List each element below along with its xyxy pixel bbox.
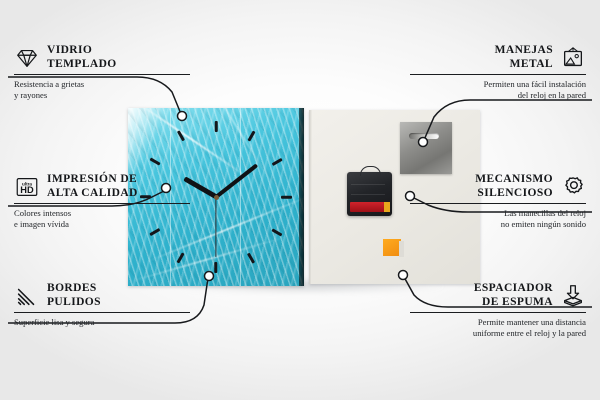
- feature-divider: [410, 74, 586, 75]
- feature-desc-line1: Las manecillas del reloj: [410, 208, 586, 219]
- feature-header: VIDRIO TEMPLADO: [14, 44, 190, 71]
- feature-desc-line2: no emiten ningún sonido: [410, 219, 586, 230]
- feature-title: IMPRESIÓN DE ALTA CALIDAD: [47, 173, 138, 200]
- feature-manejas-metal: MANEJAS METAL Permiten una fácil instala…: [410, 44, 586, 102]
- feature-title: ESPACIADOR DE ESPUMA: [474, 282, 553, 309]
- clock-panel-right-edge: [299, 108, 304, 286]
- feature-divider: [410, 312, 586, 313]
- feature-description: Resistencia a grietas y rayones: [14, 79, 190, 102]
- feature-title-line1: ESPACIADOR: [474, 282, 553, 296]
- feature-desc-line1: Permite mantener una distancia: [410, 317, 586, 328]
- clock-tick: [281, 196, 292, 199]
- feature-title-line2: DE ESPUMA: [474, 296, 553, 310]
- infographic-canvas: VIDRIO TEMPLADO Resistencia a grietas y …: [0, 0, 600, 400]
- glass-seam: [240, 108, 241, 286]
- feature-title: MECANISMO SILENCIOSO: [475, 173, 553, 200]
- feature-title-line1: BORDES: [47, 282, 101, 296]
- feature-description: Permite mantener una distancia uniforme …: [410, 317, 586, 340]
- foam-spacer-pad: [383, 239, 401, 256]
- feature-title-line2: TEMPLADO: [47, 58, 117, 72]
- ultra-hd-icon: ultra HD: [14, 174, 40, 200]
- clock-tick: [215, 121, 218, 132]
- feature-mecanismo-silencioso: MECANISMO SILENCIOSO Las manecillas del …: [410, 173, 586, 231]
- feature-header: ultra HD IMPRESIÓN DE ALTA CALIDAD: [14, 173, 190, 200]
- feature-espaciador-de-espuma: ESPACIADOR DE ESPUMA Permite mantener un…: [410, 282, 586, 340]
- mechanism-seam: [351, 184, 385, 185]
- feature-title: MANEJAS METAL: [495, 44, 553, 71]
- feature-desc-line1: Superficie lisa y segura: [14, 317, 190, 328]
- feature-header: MECANISMO SILENCIOSO: [410, 173, 586, 200]
- feature-description: Superficie lisa y segura: [14, 317, 190, 328]
- diamond-icon: [14, 45, 40, 71]
- feature-desc-line2: uniforme entre el reloj y la pared: [410, 328, 586, 339]
- feature-divider: [14, 312, 190, 313]
- clock-center-cap: [214, 195, 219, 200]
- feature-desc-line2: del reloj en la pared: [410, 90, 586, 101]
- gear-icon: [560, 174, 586, 200]
- feature-desc-line2: e imagen vívida: [14, 219, 190, 230]
- wall-frame-icon: [560, 45, 586, 71]
- feature-header: MANEJAS METAL: [410, 44, 586, 71]
- metal-hanger-plate: [400, 122, 452, 174]
- feature-title-line1: VIDRIO: [47, 44, 117, 58]
- feature-title: BORDES PULIDOS: [47, 282, 101, 309]
- feature-description: Colores intensos e imagen vívida: [14, 208, 190, 231]
- back-panel-left-edge: [309, 110, 312, 284]
- feature-description: Las manecillas del reloj no emiten ningú…: [410, 208, 586, 231]
- feature-title-line1: MANEJAS: [495, 44, 553, 58]
- feature-header: BORDES PULIDOS: [14, 282, 190, 309]
- feature-title: VIDRIO TEMPLADO: [47, 44, 117, 71]
- feature-bordes-pulidos: BORDES PULIDOS Superficie lisa y segura: [14, 282, 190, 328]
- feature-title-line2: SILENCIOSO: [475, 187, 553, 201]
- feature-divider: [14, 203, 190, 204]
- ultra-hd-icon-label: HD: [20, 185, 34, 195]
- mechanism-hanger-loop: [360, 166, 381, 176]
- feature-divider: [14, 74, 190, 75]
- clock-mechanism: [347, 172, 392, 216]
- feature-title-line1: IMPRESIÓN DE: [47, 173, 138, 187]
- feature-title-line2: ALTA CALIDAD: [47, 187, 138, 201]
- feature-title-line1: MECANISMO: [475, 173, 553, 187]
- foam-spacer-icon: [560, 283, 586, 309]
- feature-divider: [410, 203, 586, 204]
- hanger-keyhole-slot: [409, 133, 439, 139]
- mechanism-seam: [351, 194, 385, 195]
- feature-desc-line1: Resistencia a grietas: [14, 79, 190, 90]
- clock-tick: [215, 262, 218, 273]
- feature-description: Permiten una fácil instalación del reloj…: [410, 79, 586, 102]
- feature-desc-line1: Colores intensos: [14, 208, 190, 219]
- feature-desc-line1: Permiten una fácil instalación: [410, 79, 586, 90]
- feature-desc-line2: y rayones: [14, 90, 190, 101]
- feature-title-line2: METAL: [495, 58, 553, 72]
- battery-terminal: [384, 202, 390, 212]
- feature-vidrio-templado: VIDRIO TEMPLADO Resistencia a grietas y …: [14, 44, 190, 102]
- feature-header: ESPACIADOR DE ESPUMA: [410, 282, 586, 309]
- feature-impresion-alta-calidad: ultra HD IMPRESIÓN DE ALTA CALIDAD Color…: [14, 173, 190, 231]
- polished-edge-icon: [14, 283, 40, 309]
- feature-title-line2: PULIDOS: [47, 296, 101, 310]
